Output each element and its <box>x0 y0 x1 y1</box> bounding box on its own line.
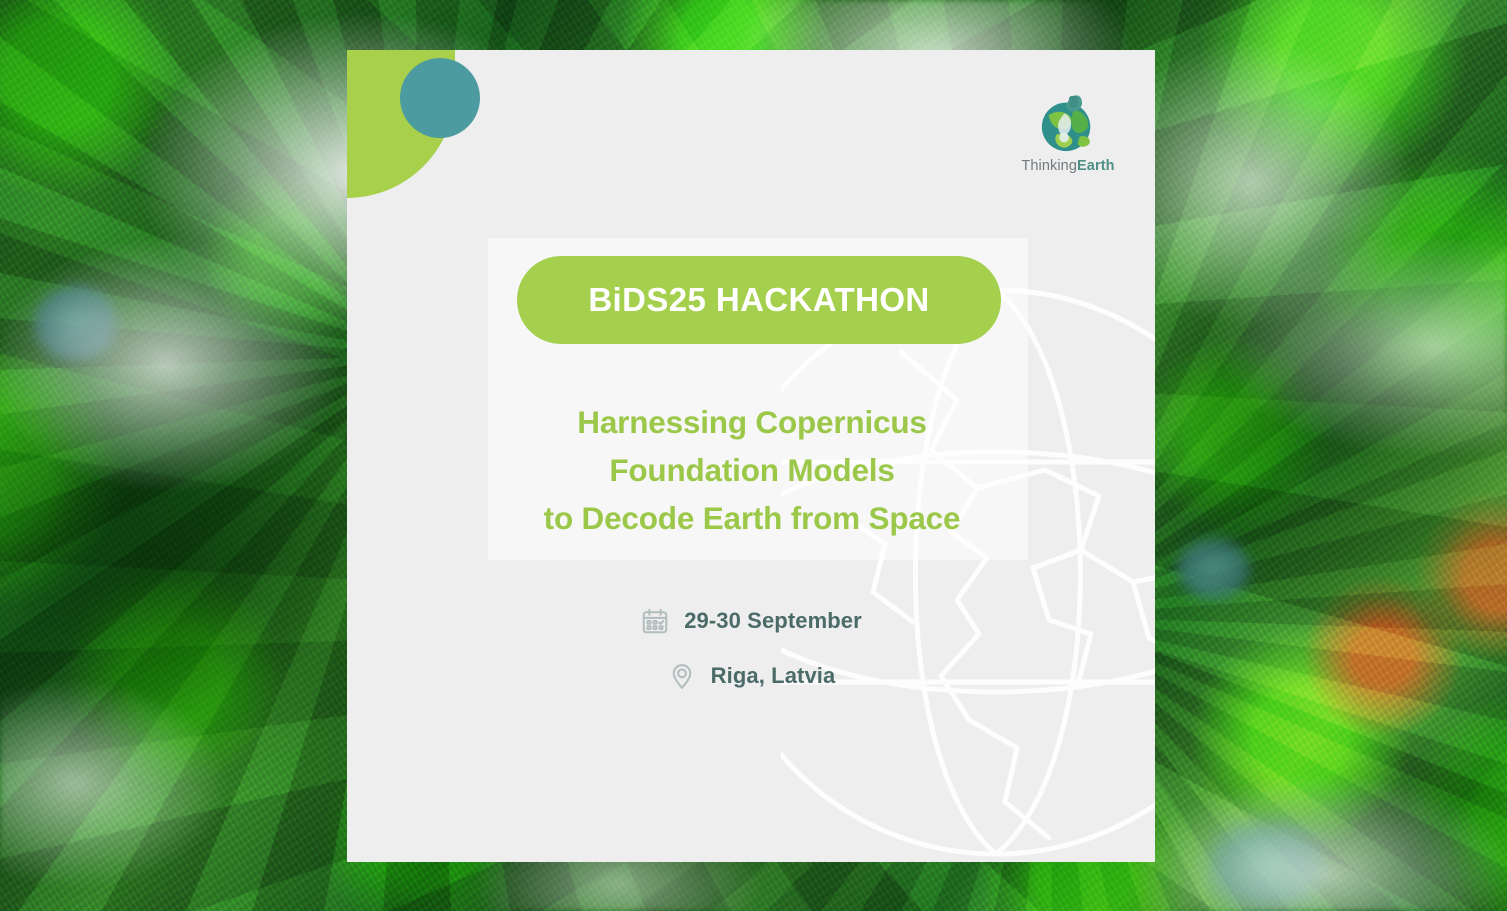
logo-wordmark: ThinkingEarth <box>1009 158 1127 174</box>
event-location-text: Riga, Latvia <box>711 663 836 689</box>
logo-word-earth: Earth <box>1077 158 1115 174</box>
water-body-bottom <box>1206 820 1327 911</box>
calendar-check-icon <box>640 606 670 636</box>
subtitle-line-2: Foundation Models <box>407 446 1097 494</box>
event-details: 29-30 September Riga, Latvia <box>347 606 1155 716</box>
water-body-left <box>30 282 120 364</box>
hackathon-title-badge: BiDS25 HACKATHON <box>517 256 1001 344</box>
event-location-row: Riga, Latvia <box>347 661 1155 691</box>
earth-globe-lightbulb-icon <box>1037 92 1099 154</box>
water-body-right <box>1175 537 1250 601</box>
logo-word-thinking: Thinking <box>1021 158 1077 174</box>
map-pin-icon <box>667 661 697 691</box>
event-poster-card: ThinkingEarth BiDS25 HACKATHON Harnessin… <box>347 50 1155 862</box>
thinkingearth-logo: ThinkingEarth <box>1009 92 1127 174</box>
event-date-row: 29-30 September <box>347 606 1155 636</box>
subtitle-line-1: Harnessing Copernicus <box>407 398 1097 446</box>
poster-subtitle: Harnessing Copernicus Foundation Models … <box>407 398 1097 542</box>
subtitle-line-3: to Decode Earth from Space <box>407 494 1097 542</box>
hackathon-title-text: BiDS25 HACKATHON <box>588 281 929 319</box>
event-date-text: 29-30 September <box>684 608 862 634</box>
teal-circle-decor-icon <box>400 58 480 138</box>
